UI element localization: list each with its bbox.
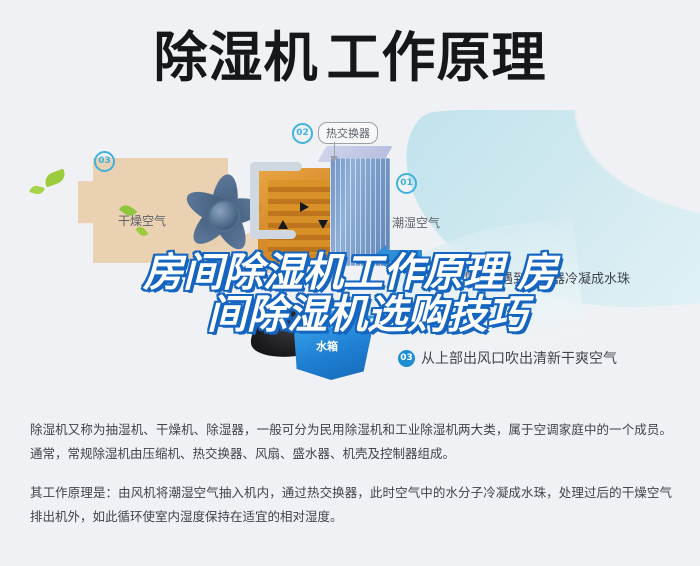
callout-humid-air-label: 潮湿空气: [392, 214, 440, 231]
flow-arrow-icon: [318, 220, 328, 229]
compressor-coil-rows: [268, 180, 338, 254]
page-title-part1: 除湿机: [154, 26, 319, 89]
illustration-stage: 水箱 03 干燥空气 02 热交换器 01 潮湿空气 潮湿空气遇到蒸发器冷凝成水…: [0, 110, 700, 405]
callout-heat-exchanger-label: 热交换器: [318, 122, 378, 144]
poster-page: 除湿机工作原理: [0, 0, 700, 566]
badge-number-02: 02: [292, 123, 313, 144]
flow-arrow-icon: [278, 220, 288, 229]
callout-dry-air: 03: [94, 150, 115, 172]
step-line-02-text: 潮湿空气遇到蒸发器冷凝成水珠: [448, 268, 630, 287]
header: 除湿机工作原理: [0, 18, 700, 98]
callout-heat-exchanger: 02 热交换器: [292, 122, 378, 144]
page-title: 除湿机工作原理: [154, 31, 547, 85]
article-body: 除湿机又称为抽湿机、干燥机、除湿器，一般可分为民用除湿机和工业除湿机两大类，属于…: [30, 418, 672, 530]
step-line-03-text: 从上部出风口吹出清新干爽空气: [421, 348, 617, 368]
badge-number-03-filled: 03: [398, 350, 415, 367]
article-paragraph-1: 除湿机又称为抽湿机、干燥机、除湿器，一般可分为民用除湿机和工业除湿机两大类，属于…: [30, 418, 672, 467]
refrigerant-pipe: [250, 162, 259, 238]
leaf-icon: [29, 184, 45, 195]
page-title-part2: 工作原理: [327, 26, 547, 89]
badge-number-03: 03: [94, 151, 115, 172]
callout-pointer-icon: [334, 142, 335, 158]
article-paragraph-2: 其工作原理是：由风机将潮湿空气抽入机内，通过热交换器，此时空气中的水分子冷凝成水…: [30, 481, 672, 530]
refrigerant-pipe: [250, 230, 296, 239]
fan-hub: [208, 200, 240, 232]
leaf-icon: [43, 169, 68, 188]
callout-humid-air: 01: [396, 172, 417, 194]
step-line-03: 03 从上部出风口吹出清新干爽空气: [398, 348, 617, 368]
step-line-02: 潮湿空气遇到蒸发器冷凝成水珠: [448, 268, 630, 287]
callout-dry-air-label: 干燥空气: [118, 212, 166, 229]
water-tank-label: 水箱: [316, 338, 338, 354]
flow-arrow-icon: [300, 202, 309, 212]
badge-number-01: 01: [396, 173, 417, 194]
air-intake-arrow-icon: [386, 250, 422, 262]
